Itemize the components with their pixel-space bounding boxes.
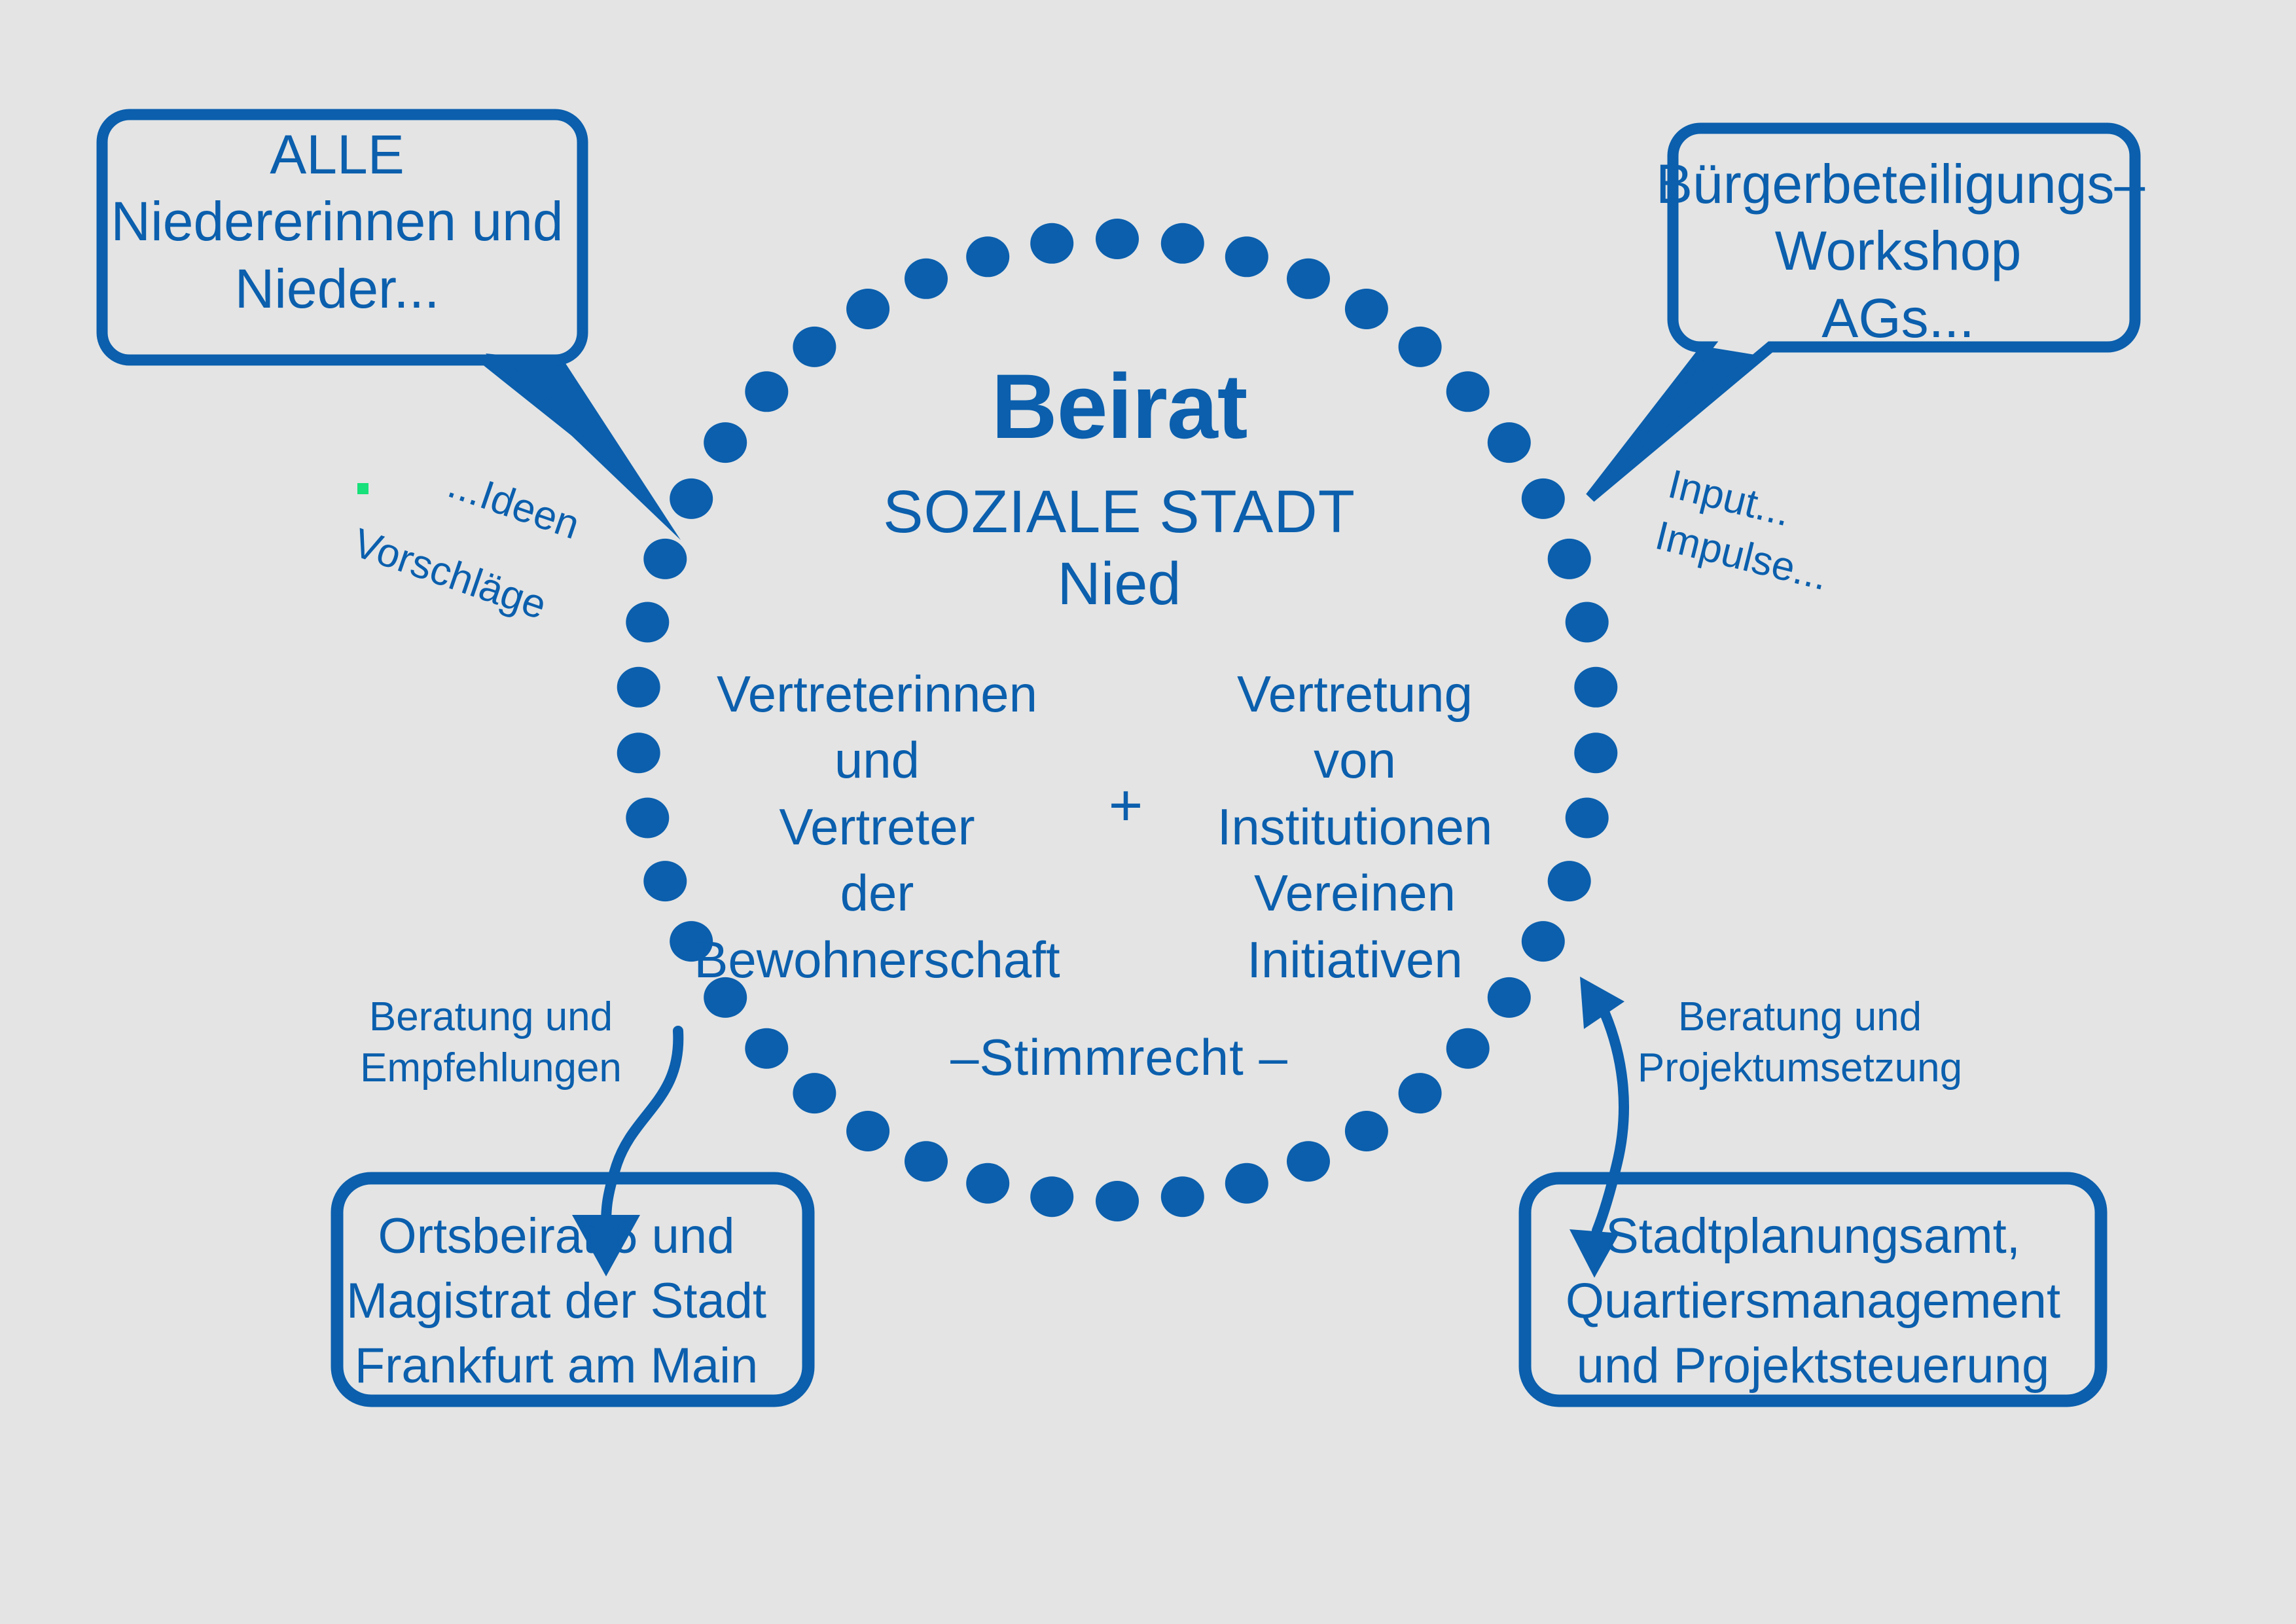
core-column-residents: Vertreterinnen und Vertreter der Bewohne… xyxy=(694,661,1060,993)
circle-dot xyxy=(1566,602,1609,643)
circle-dot xyxy=(1225,1163,1268,1204)
circle-dot xyxy=(1548,861,1591,901)
green-square-marker xyxy=(357,483,368,494)
circle-dot xyxy=(1345,1111,1388,1151)
speech-bubble-top-left-label: ALLE Niedererinnen und Nieder... xyxy=(98,121,576,322)
annotation-beratung-projektumsetzung: Beratung und Projektumsetzung xyxy=(1630,992,1970,1093)
circle-dot xyxy=(1030,1176,1073,1217)
core-subtitle-programme: SOZIALE STADT xyxy=(785,478,1453,547)
circle-dot xyxy=(1446,1028,1490,1069)
circle-dot xyxy=(905,259,948,299)
box-stadtplanungsamt-label: Stadtplanungsamt, Quartiersmanagement un… xyxy=(1525,1204,2101,1398)
circle-dot xyxy=(846,289,889,329)
arrow-shaft-right xyxy=(1597,1013,1624,1231)
circle-dot xyxy=(643,539,687,579)
circle-dot xyxy=(1030,223,1073,264)
diagram-canvas: ALLE Niedererinnen und Nieder... Bürgerb… xyxy=(0,0,2296,1624)
circle-dot xyxy=(626,798,669,839)
speech-bubble-top-right-label: Bürgerbeteiligungs– Workshop AGs... xyxy=(1656,151,2140,352)
circle-dot xyxy=(1161,223,1204,264)
circle-dot xyxy=(1225,236,1268,277)
circle-dot xyxy=(704,422,747,463)
circle-dot xyxy=(1488,422,1531,463)
circle-dot xyxy=(643,861,687,901)
core-voting-rights-note: –Stimmrecht – xyxy=(870,1028,1368,1087)
circle-dot xyxy=(905,1141,948,1182)
circle-dot xyxy=(626,602,669,643)
circle-dot xyxy=(1399,1073,1442,1113)
plus-icon: + xyxy=(1073,772,1178,840)
circle-dot xyxy=(1345,289,1388,329)
core-column-institutions: Vertretung von Institutionen Vereinen In… xyxy=(1191,661,1518,993)
circle-dot xyxy=(966,236,1009,277)
circle-dot xyxy=(1548,539,1591,579)
circle-dot xyxy=(617,667,660,708)
core-subtitle-district: Nied xyxy=(785,550,1453,619)
circle-dot xyxy=(846,1111,889,1151)
annotation-beratung-empfehlungen: Beratung und Empfehlungen xyxy=(353,992,628,1093)
circle-dot xyxy=(1287,259,1330,299)
circle-dot xyxy=(1522,921,1565,962)
core-title: Beirat xyxy=(785,353,1453,460)
circle-dot xyxy=(1096,219,1139,259)
circle-dot xyxy=(1161,1176,1204,1217)
circle-dot xyxy=(1574,667,1617,708)
circle-dot xyxy=(1574,732,1617,773)
circle-dot xyxy=(745,1028,788,1069)
arrow-head-right-up xyxy=(1580,977,1624,1029)
box-ortsbeirat-label: Ortsbeirat 6 und Magistrat der Stadt Fra… xyxy=(327,1204,785,1398)
circle-dot xyxy=(1096,1181,1139,1221)
circle-dot xyxy=(1566,798,1609,839)
circle-dot xyxy=(966,1163,1009,1204)
circle-dot xyxy=(1287,1141,1330,1182)
circle-dot xyxy=(617,732,660,773)
circle-dot xyxy=(793,1073,836,1113)
circle-dot xyxy=(745,371,788,412)
circle-dot xyxy=(1522,478,1565,519)
circle-dot xyxy=(670,478,713,519)
